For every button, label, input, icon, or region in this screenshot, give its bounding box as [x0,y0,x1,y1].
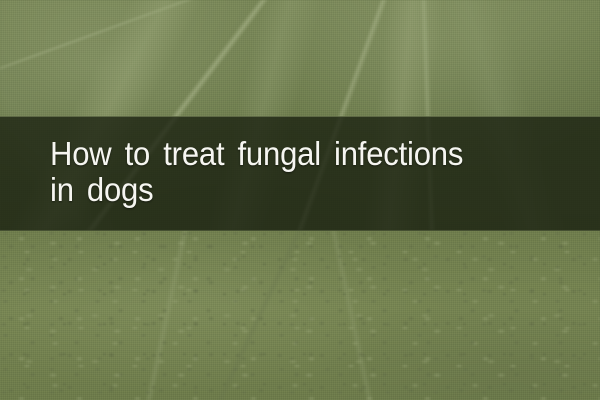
banner-title: How to treat fungal infections in dogs [50,136,558,208]
article-header-banner: How to treat fungal infections in dogs [0,0,600,400]
title-overlay-band: How to treat fungal infections in dogs [0,116,600,231]
